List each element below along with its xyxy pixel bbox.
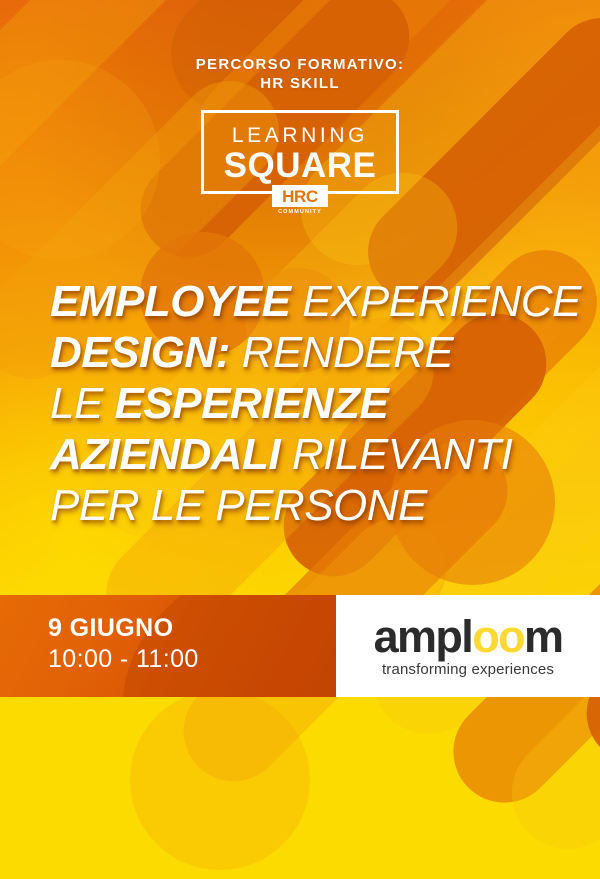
headline-5-regular: PER LE PERSONE [50, 481, 427, 530]
headline-1-bold: EMPLOYEE [50, 277, 291, 326]
event-date-text: 9 GIUGNO 10:00 - 11:00 [48, 613, 199, 675]
amploom-word-part2: m [524, 611, 562, 662]
amploom-logo-box: amploom transforming experiences [336, 595, 600, 697]
amploom-word-accent: oo [472, 611, 524, 662]
event-time: 10:00 - 11:00 [48, 644, 199, 675]
headline-line-2: DESIGN: RENDERE [50, 327, 580, 378]
hrc-mark: HRC [282, 188, 318, 205]
headline-line-5: PER LE PERSONE [50, 480, 580, 531]
hrc-community-badge: HRC COMMUNITY [272, 185, 328, 216]
headline-2-bold: DESIGN: [50, 328, 230, 377]
headline-3-bold: ESPERIENZE [115, 379, 389, 428]
event-date-bar: 9 GIUGNO 10:00 - 11:00 [0, 595, 336, 697]
hrc-subtitle: COMMUNITY [272, 209, 328, 216]
headline: EMPLOYEE EXPERIENCE DESIGN: RENDERE LE E… [50, 276, 580, 531]
headline-4-bold: AZIENDALI [50, 430, 280, 479]
hrc-badge-box: HRC [272, 185, 328, 207]
learning-square-line-2: SQUARE [204, 146, 396, 186]
event-date: 9 GIUGNO [48, 613, 199, 644]
headline-2-regular: RENDERE [230, 328, 453, 377]
amploom-word-part1: ampl [374, 611, 473, 662]
blob-decor [130, 690, 310, 870]
learning-square-line-1: LEARNING [204, 124, 396, 148]
headline-line-3: LE ESPERIENZE [50, 378, 580, 429]
amploom-wordmark: amploom [374, 614, 563, 660]
headline-line-4: AZIENDALI RILEVANTI [50, 429, 580, 480]
learning-square-logo: LEARNING SQUARE [201, 110, 399, 194]
headline-4-regular: RILEVANTI [280, 430, 512, 479]
headline-line-1: EMPLOYEE EXPERIENCE [50, 276, 580, 327]
kicker-line-2: HR SKILL [0, 74, 600, 93]
headline-3-regular: LE [50, 379, 115, 428]
headline-1-regular: EXPERIENCE [291, 277, 581, 326]
poster-root: PERCORSO FORMATIVO: HR SKILL LEARNING SQ… [0, 0, 600, 879]
kicker-line-1: PERCORSO FORMATIVO: [0, 55, 600, 74]
amploom-tagline: transforming experiences [382, 661, 554, 679]
kicker-text: PERCORSO FORMATIVO: HR SKILL [0, 55, 600, 93]
